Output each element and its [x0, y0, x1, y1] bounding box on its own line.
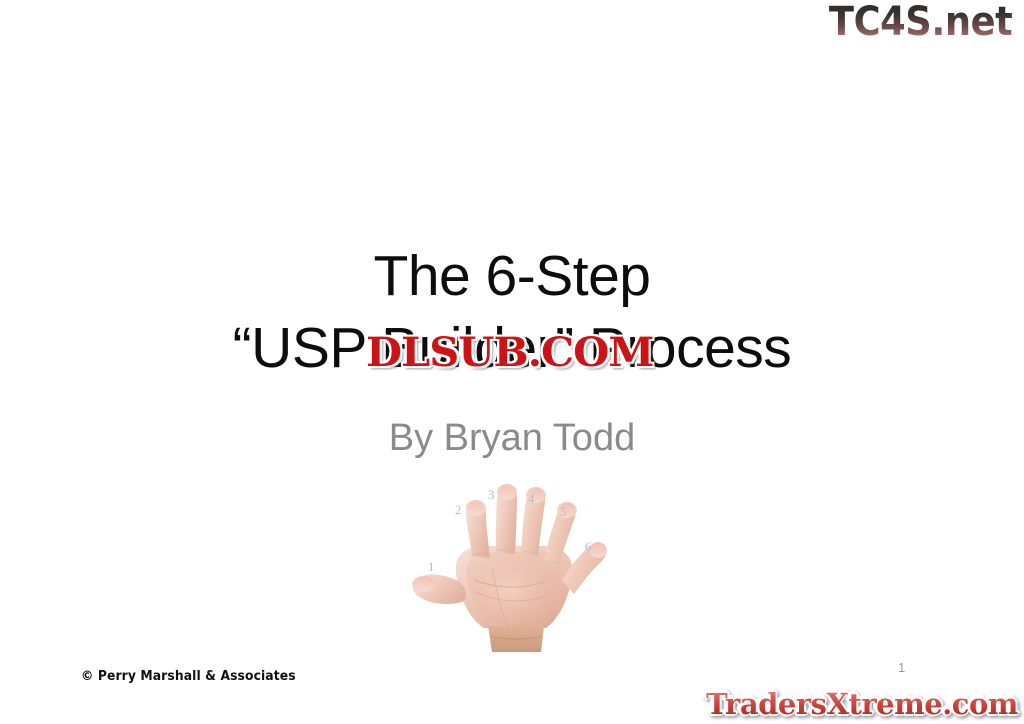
- tradersxtreme-watermark: TradersXtreme.com: [706, 686, 1018, 722]
- slide-page-number: 1: [898, 660, 905, 676]
- title-line-1: The 6-Step: [0, 240, 1024, 312]
- dlsub-watermark: DLSUB.COM: [366, 331, 653, 375]
- presentation-slide: TC4S.net The 6-Step “USP Builder” Proces…: [0, 0, 1024, 724]
- finger-number-3: 3: [488, 488, 495, 501]
- six-finger-hand-image: 1 2 3 4 5 6: [404, 476, 620, 654]
- copyright-notice: © Perry Marshall & Associates: [81, 669, 296, 685]
- tc4s-logo: TC4S.net: [829, 2, 1012, 42]
- finger-number-1: 1: [428, 560, 435, 573]
- hand-illustration: [404, 476, 620, 654]
- finger-number-5: 5: [560, 505, 567, 518]
- finger-number-6: 6: [585, 540, 592, 553]
- subtitle-author: By Bryan Todd: [0, 414, 1024, 462]
- finger-number-2: 2: [455, 503, 462, 516]
- finger-number-4: 4: [528, 492, 535, 505]
